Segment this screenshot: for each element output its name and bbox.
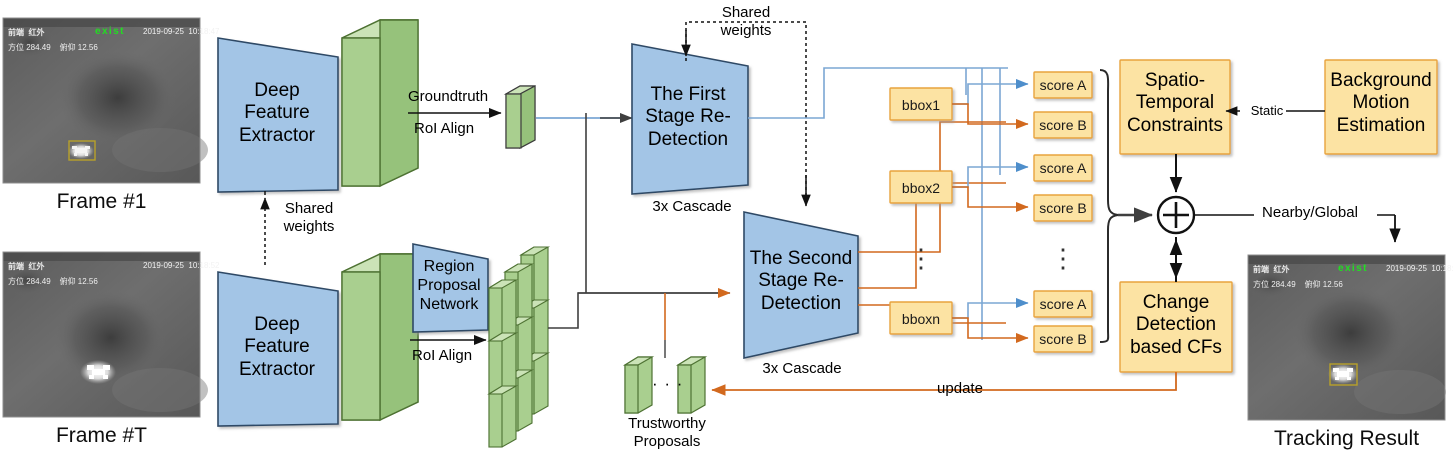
result-angles-label: 方位 284.49 俯仰 12.56 [1253,279,1343,290]
roi-feature-cube [506,86,535,148]
result-exist-label: exist [1338,263,1368,274]
region-proposal-network[interactable] [413,244,488,332]
edge-stage2-outputs [858,122,1006,323]
frame1-exist-label: exist [95,26,125,37]
frame1-angles-label: 方位 284.49 俯仰 12.56 [8,42,98,53]
background-motion-estimation[interactable] [1325,60,1437,154]
second-stage-redetection[interactable] [744,212,858,358]
frame1-date-label: 2019-09-25 10:18:47 [143,27,220,36]
frameT-angles-label: 方位 284.49 俯仰 12.56 [8,276,98,287]
result-date-label: 2019-09-25 10:18:52 [1386,264,1453,273]
feature-map-top [342,20,418,186]
bbox-group-2 [890,155,1092,221]
spatio-temporal-constraints[interactable] [1120,60,1230,154]
first-stage-redetection[interactable] [632,44,748,194]
proposal-feature-cubes [489,247,548,447]
edge-proposals-to-stage2 [548,293,730,328]
result-source-label: 前端 红外 [1253,264,1289,275]
edge-nearby-global [1194,215,1395,242]
deep-feature-extractor-bottom[interactable] [218,272,338,426]
frameT-date-label: 2019-09-25 10:18:52 [143,261,220,270]
frameT-source-label: 前端 红外 [8,261,44,272]
bbox-group-1 [890,72,1092,138]
deep-feature-extractor-top[interactable] [218,38,338,192]
edge-scoreb-feedback [880,338,1034,355]
frame1-source-label: 前端 红外 [8,27,44,38]
fusion-operator [1158,197,1194,233]
edge-update-feedback [712,372,1176,390]
feature-map-bottom [342,254,418,420]
bbox-group-n [890,291,1092,352]
aggregation-brace [1100,70,1118,342]
change-detection-cfs[interactable] [1120,282,1232,372]
architecture-diagram [0,0,1453,463]
